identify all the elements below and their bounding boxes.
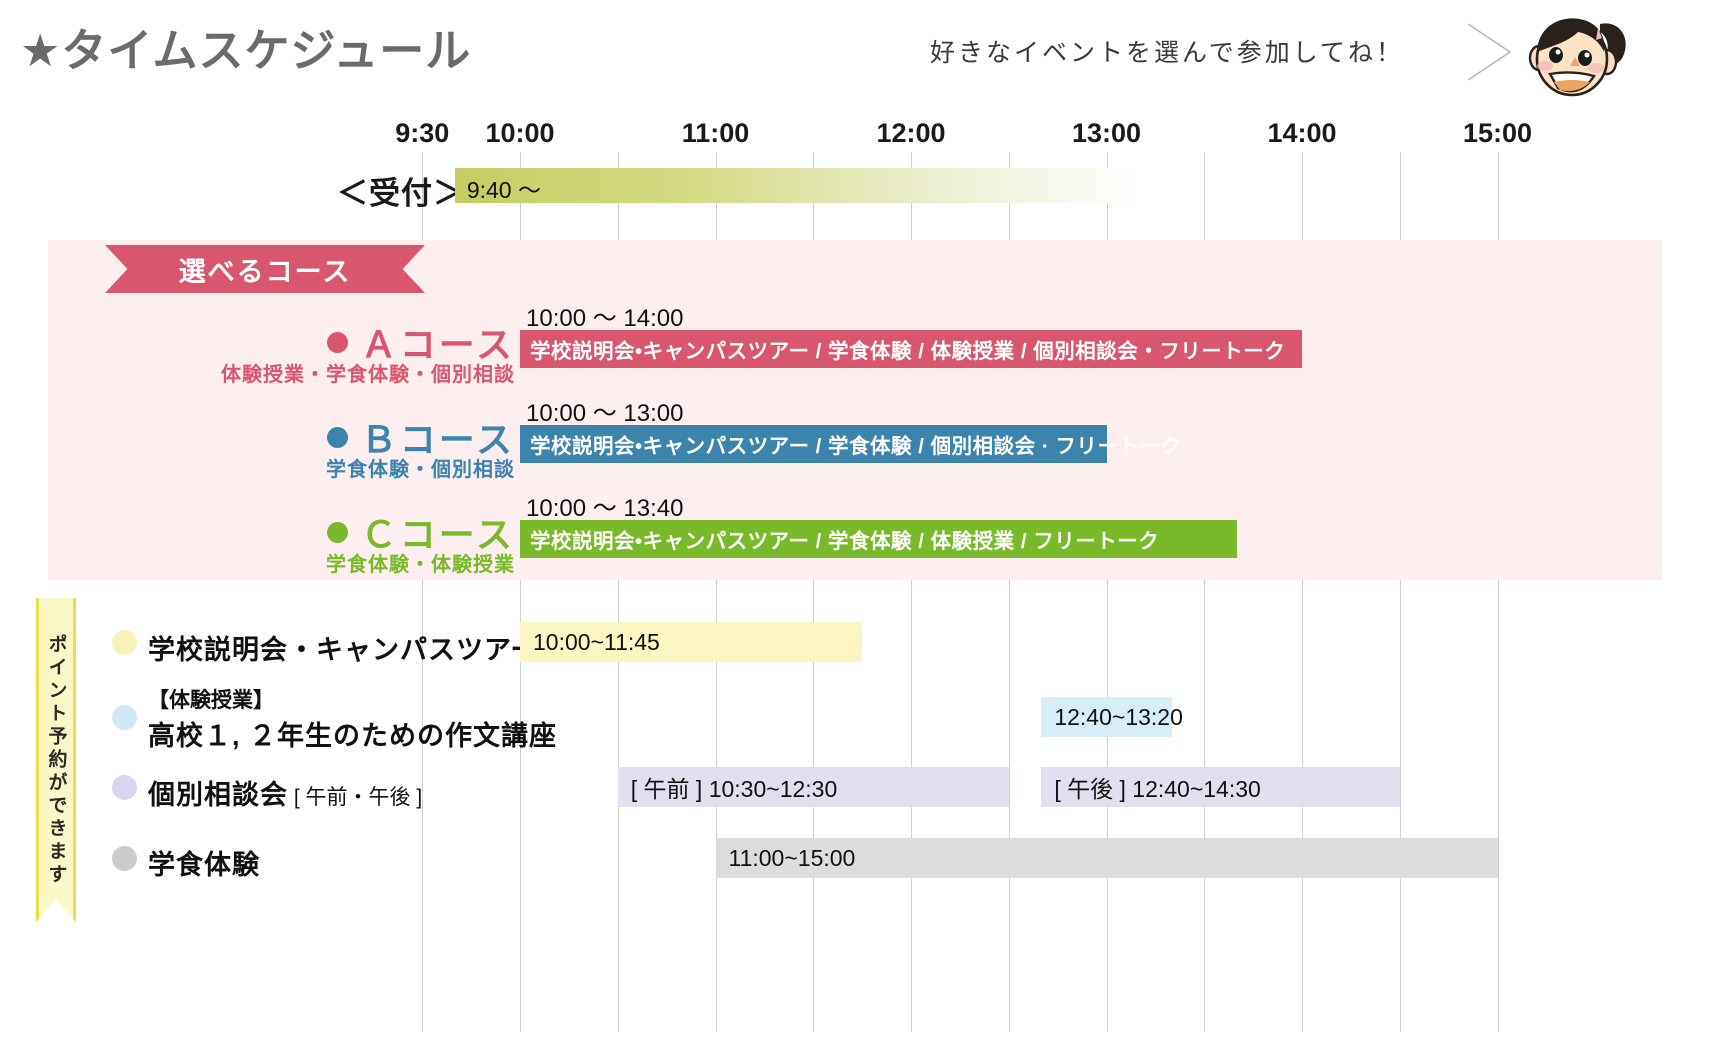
event-bar-time: 11:00~15:00 [729,845,856,872]
event-label-main: 個別相談会 [148,780,288,810]
course-color-dot [327,522,348,543]
course-time-range: 10:00 ～ 14:00 [526,298,683,333]
course-bar-contents: 学校説明会•キャンパスツアー / 学食体験 / 体験授業 / 個別相談会・フリー… [530,334,1285,364]
event-label-suffix: [ 午前・午後 ] [288,786,422,809]
event-bar-time: [ 午後 ] 12:40~14:30 [1054,770,1261,804]
axis-tick-14-00: 14:00 [1267,118,1336,149]
event-bar-time: 12:40~13:20 [1054,704,1183,731]
axis-tick-12-00: 12:00 [876,118,945,149]
time-schedule-page: ★タイムスケジュール 好きなイベントを選んで参加してね！ 9:3010:0011… [0,0,1711,1049]
course-banner: 選べるコース [105,245,425,293]
girl-avatar-icon [1512,6,1642,106]
reception-bar: 9:40 ～ [455,168,1139,203]
course-bar-contents: 学校説明会•キャンパスツアー / 学食体験 / 個別相談会 · フリートーク [530,429,1181,459]
course-bar-contents: 学校説明会•キャンパスツアー / 学食体験 / 体験授業 / フリートーク [530,524,1159,554]
event-label: 【体験授業】高校１, ２年生のための作文講座 [148,684,557,753]
course-subtitle: 学食体験・体験授業 [115,548,515,577]
event-label-main: 高校１, ２年生のための作文講座 [148,721,557,751]
course-bar[interactable]: 学校説明会•キャンパスツアー / 学食体験 / 個別相談会 · フリートーク [520,425,1107,463]
course-subtitle: 学食体験・個別相談 [115,453,515,482]
event-label: 個別相談会 [ 午前・午後 ] [148,773,422,812]
course-color-dot [327,427,348,448]
event-bar[interactable]: [ 午後 ] 12:40~14:30 [1041,767,1399,807]
event-bar[interactable]: 10:00~11:45 [520,622,862,662]
course-time-range: 10:00 ～ 13:00 [526,393,683,428]
course-color-dot [327,332,348,353]
event-color-dot [112,775,137,800]
page-title: ★タイムスケジュール [20,14,471,79]
event-label-prefix: 【体験授業】 [148,684,557,714]
event-bar[interactable]: 11:00~15:00 [716,838,1498,878]
course-bar[interactable]: 学校説明会•キャンパスツアー / 学食体験 / 体験授業 / 個別相談会・フリー… [520,330,1302,368]
event-bar[interactable]: [ 午前 ] 10:30~12:30 [618,767,1009,807]
axis-tick-10-00: 10:00 [485,118,554,149]
event-color-dot [112,705,137,730]
axis-tick-11-00: 11:00 [682,118,750,149]
event-bar-time: [ 午前 ] 10:30~12:30 [631,770,838,804]
course-banner-label: 選べるコース [179,250,352,289]
event-label: 学食体験 [148,843,260,882]
event-color-dot [112,846,137,871]
event-label-main: 学食体験 [148,850,260,880]
tagline-text: 好きなイベントを選んで参加してね！ [930,33,1404,69]
event-color-dot [112,630,137,655]
point-reservation-text: ポイント予約ができます [47,634,66,887]
point-reservation-ribbon: ポイント予約ができます [36,598,76,922]
reception-time: 9:40 ～ [467,171,541,205]
course-subtitle: 体験授業・学食体験・個別相談 [115,358,515,387]
course-time-range: 10:00 ～ 13:40 [526,488,683,523]
axis-tick-15-00: 15:00 [1463,118,1532,149]
event-bar-time: 10:00~11:45 [533,629,660,656]
event-label-main: 学校説明会・キャンパスツアー [148,635,538,665]
time-axis: 9:3010:0011:0012:0013:0014:0015:00 [0,118,1711,150]
course-bar[interactable]: 学校説明会•キャンパスツアー / 学食体験 / 体験授業 / フリートーク [520,520,1237,558]
reception-label: ＜受付＞ [290,168,465,213]
axis-tick-9-30: 9:30 [395,118,449,149]
event-label: 学校説明会・キャンパスツアー [148,628,538,667]
axis-tick-13-00: 13:00 [1072,118,1141,149]
event-bar[interactable]: 12:40~13:20 [1041,697,1171,737]
